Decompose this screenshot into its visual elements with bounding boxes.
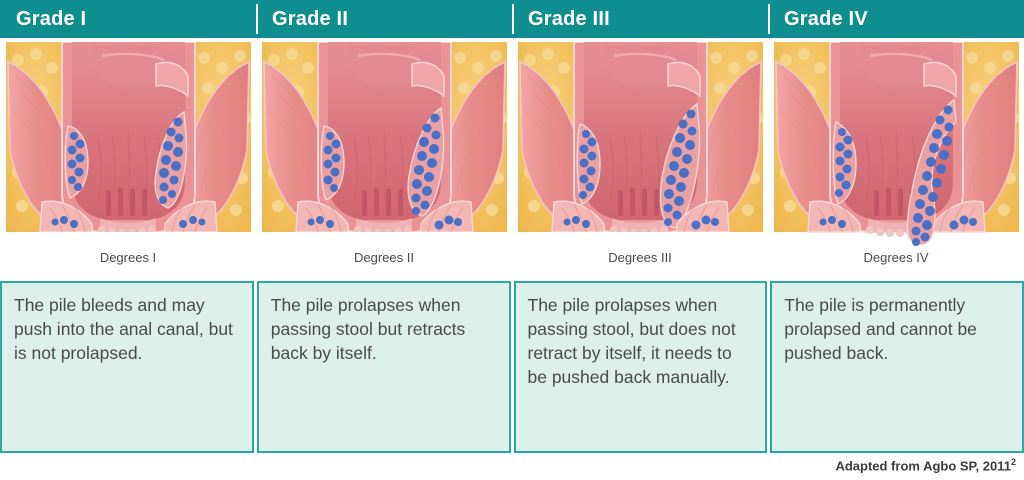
grade-header-row: Grade I Grade II Grade III Grade IV [0, 0, 1024, 38]
grade-header-cell-4: Grade IV [768, 0, 1024, 38]
description-text-1: The pile bleeds and may push into the an… [14, 293, 240, 365]
grade-title-3: Grade III [528, 9, 610, 29]
description-cell-1: The pile bleeds and may push into the an… [0, 281, 254, 453]
description-cell-4: The pile is permanently prolapsed and ca… [770, 281, 1024, 453]
illustration-cell-3: Degrees III [512, 42, 768, 278]
hemorrhoid-grade-2-cross-section-icon [262, 42, 507, 247]
grade-title-1: Grade I [16, 9, 86, 29]
degree-caption-4: Degrees IV [863, 251, 928, 265]
attribution: Adapted from Agbo SP, 20112 [835, 457, 1016, 473]
description-text-2: The pile prolapses when passing stool bu… [271, 293, 497, 365]
attribution-reference-number: 2 [1011, 457, 1016, 467]
hemorrhoid-grade-3-cross-section-icon [518, 42, 763, 247]
grade-header-cell-2: Grade II [256, 0, 512, 38]
description-text-3: The pile prolapses when passing stool, b… [528, 293, 754, 390]
grade-title-4: Grade IV [784, 9, 868, 29]
degree-caption-2: Degrees II [354, 251, 414, 265]
hemorrhoid-grade-4-cross-section-icon [774, 42, 1019, 247]
illustration-cell-1: Degrees I [0, 42, 256, 278]
description-row: The pile bleeds and may push into the an… [0, 281, 1024, 453]
illustration-cell-4: Degrees IV [768, 42, 1024, 278]
grade-header-cell-3: Grade III [512, 0, 768, 38]
hemorrhoid-grade-chart: Grade I Grade II Grade III Grade IV [0, 0, 1024, 480]
description-text-4: The pile is permanently prolapsed and ca… [784, 293, 1010, 365]
illustration-row: Degrees I [0, 42, 1024, 278]
description-cell-3: The pile prolapses when passing stool, b… [514, 281, 768, 453]
attribution-text: Adapted from Agbo SP, 2011 [835, 458, 1011, 473]
degree-caption-1: Degrees I [100, 251, 156, 265]
grade-header-cell-1: Grade I [0, 0, 256, 38]
grade-title-2: Grade II [272, 9, 348, 29]
degree-caption-3: Degrees III [608, 251, 672, 265]
description-cell-2: The pile prolapses when passing stool bu… [257, 281, 511, 453]
hemorrhoid-grade-1-cross-section-icon [6, 42, 251, 247]
illustration-cell-2: Degrees II [256, 42, 512, 278]
